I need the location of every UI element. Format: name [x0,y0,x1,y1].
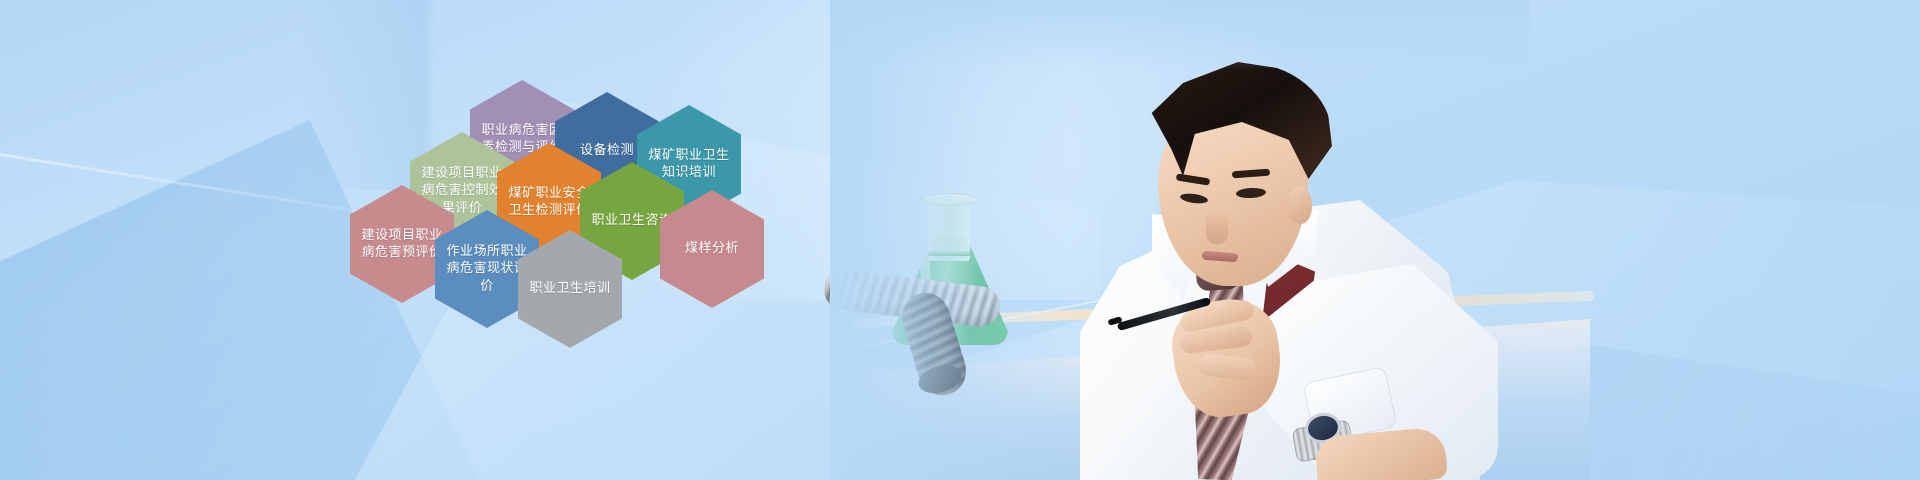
hex-construction-hazard-pre-evaluation-label: 建设项目职业病危害预评价 [356,227,448,261]
service-hexagon-cluster: 职业病危害因素检测与评价设备检测煤矿职业卫生知识培训建设项目职业病危害控制效果评… [330,50,800,350]
corrugated-hose [824,270,1044,380]
photo-composite [830,0,1530,480]
businessman-figure [1080,18,1510,480]
flask-liquid-line [928,251,970,256]
flask-lip [920,193,978,206]
hex-coal-mine-hygiene-training-label: 煤矿职业卫生知识培训 [643,147,735,181]
nose [1206,210,1228,244]
hex-occupational-hygiene-training-label: 职业卫生培训 [524,280,616,297]
banner-root: 职业病危害因素检测与评价设备检测煤矿职业卫生知识培训建设项目职业病危害控制效果评… [0,0,1920,480]
hex-coal-sample-analysis-label: 煤样分析 [666,240,758,257]
ear [1288,186,1312,224]
